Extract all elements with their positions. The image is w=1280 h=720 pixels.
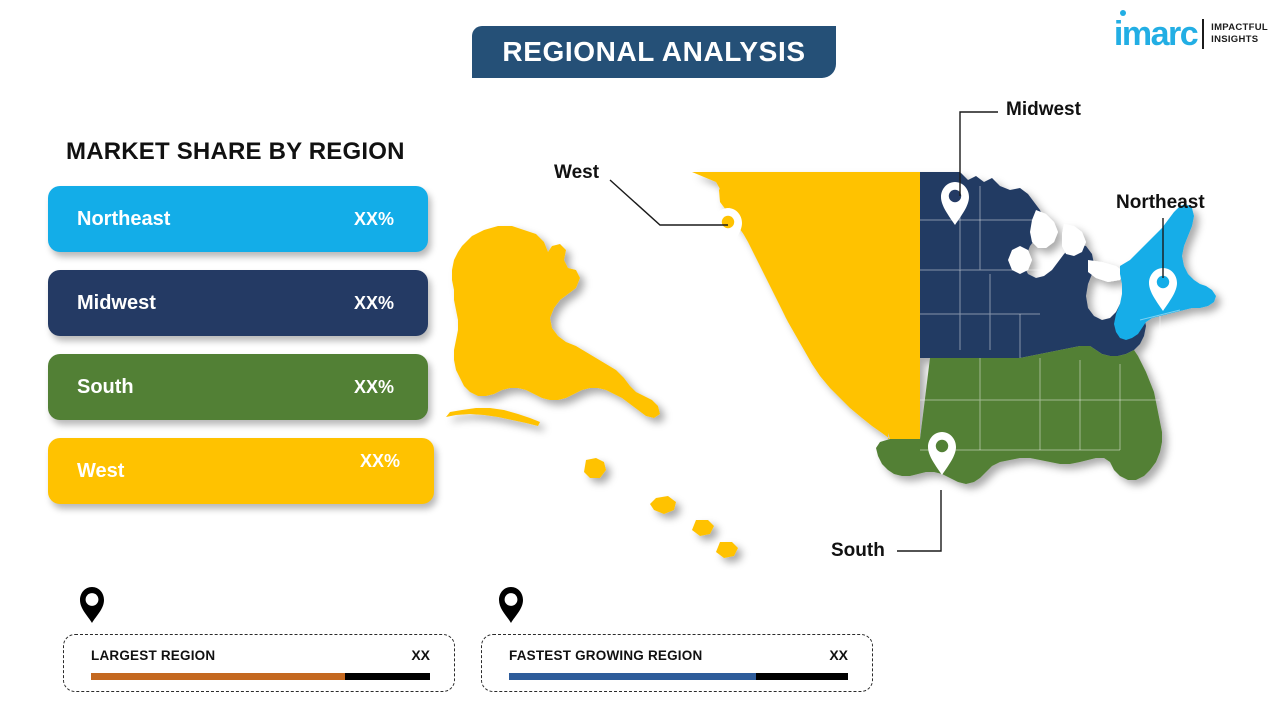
market-share-heading: MARKET SHARE BY REGION [66,138,405,166]
logo-wordmark: imarc [1114,17,1197,51]
largest-region-progress-track [91,673,430,680]
region-bar-value: XX% [354,293,394,314]
region-bar-west[interactable]: West XX% [48,438,434,504]
fastest-region-progress-fill [509,673,756,680]
map-alaska-aleutians [446,408,540,426]
fastest-region-value: XX [829,647,848,663]
map-hawaii [584,458,738,558]
region-bar-value: XX% [354,209,394,230]
region-bar-value: XX% [354,377,394,398]
largest-region-progress-fill [91,673,345,680]
largest-region-pin-icon [78,586,106,624]
fastest-region-progress-track [509,673,848,680]
map-alaska [452,226,660,418]
fastest-region-box[interactable]: FASTEST GROWING REGION XX [481,634,873,692]
region-bar-label: Midwest [77,292,354,315]
region-bar-label: West [77,460,360,483]
callout-label-west: West [554,162,599,184]
page-title-banner: REGIONAL ANALYSIS [472,26,836,78]
callout-label-south: South [831,540,885,562]
imarc-logo: imarc IMPACTFUL INSIGHTS [1114,14,1268,54]
largest-region-box[interactable]: LARGEST REGION XX [63,634,455,692]
fastest-region-pin-icon [497,586,525,624]
region-bar-list: Northeast XX% Midwest XX% South XX% West… [48,186,428,522]
fastest-region-row: FASTEST GROWING REGION XX [509,647,848,663]
region-bar-label: South [77,376,354,399]
logo-tagline: IMPACTFUL INSIGHTS [1211,22,1268,46]
region-bar-midwest[interactable]: Midwest XX% [48,270,428,336]
logo-tagline-line2: INSIGHTS [1211,34,1268,46]
page-title: REGIONAL ANALYSIS [502,36,805,68]
region-bar-northeast[interactable]: Northeast XX% [48,186,428,252]
largest-region-row: LARGEST REGION XX [91,647,430,663]
map-pin-west [714,208,742,251]
largest-region-value: XX [411,647,430,663]
fastest-region-label: FASTEST GROWING REGION [509,648,702,663]
largest-region-label: LARGEST REGION [91,648,215,663]
logo-dot-icon [1120,10,1126,16]
map-shapes [446,172,1216,558]
region-bar-south[interactable]: South XX% [48,354,428,420]
region-bar-value: XX% [360,451,400,472]
logo-divider [1202,19,1204,49]
callout-label-midwest: Midwest [1006,99,1081,121]
logo-wordmark-text: imarc [1114,15,1197,53]
callout-label-northeast: Northeast [1116,192,1205,214]
logo-tagline-line1: IMPACTFUL [1211,22,1268,34]
region-bar-label: Northeast [77,208,354,231]
